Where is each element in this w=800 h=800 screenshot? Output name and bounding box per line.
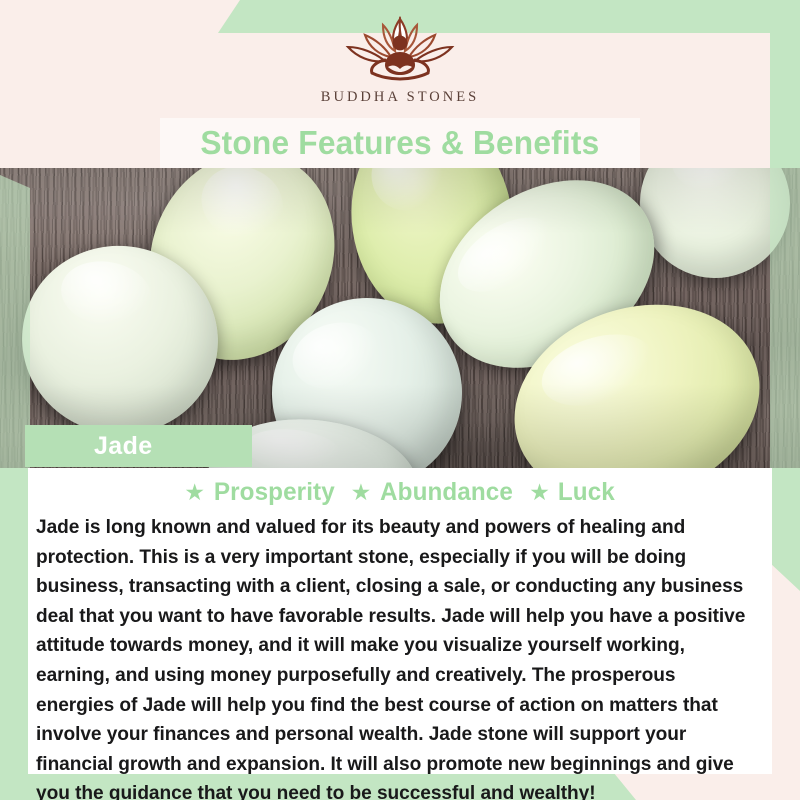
stone-photo-image bbox=[0, 168, 800, 468]
stone-name-label: Jade bbox=[94, 432, 153, 461]
keyword-list: ★ Prosperity ★ Abundance ★ Luck bbox=[28, 478, 772, 507]
brand-name: BUDDHA STONES bbox=[321, 89, 479, 106]
keyword-item-luck: ★ Luck bbox=[529, 478, 615, 507]
brand-header: BUDDHA STONES bbox=[0, 0, 800, 118]
star-icon: ★ bbox=[184, 481, 205, 504]
stone-photo bbox=[0, 168, 800, 468]
stone-description: Jade is long known and valued for its be… bbox=[36, 513, 753, 800]
keyword-item-prosperity: ★ Prosperity bbox=[184, 478, 336, 507]
photo-overlay-right bbox=[770, 168, 800, 468]
stone-name-band: Jade bbox=[25, 425, 252, 467]
star-icon: ★ bbox=[351, 481, 372, 504]
decorative-band-left-lower bbox=[0, 458, 28, 782]
photo-overlay-left bbox=[0, 168, 30, 468]
description-card: ★ Prosperity ★ Abundance ★ Luck Jade is … bbox=[28, 468, 772, 774]
keyword-item-abundance: ★ Abundance bbox=[351, 478, 516, 507]
title-banner: Stone Features & Benefits bbox=[160, 118, 640, 168]
lotus-meditation-icon bbox=[325, 13, 475, 85]
photo-vignette bbox=[0, 168, 800, 468]
stone-info-card: BUDDHA STONES Stone Features & Benefits … bbox=[0, 0, 800, 800]
keyword-label: Luck bbox=[558, 478, 615, 507]
keyword-label: Abundance bbox=[380, 478, 513, 507]
keyword-label: Prosperity bbox=[214, 478, 335, 507]
star-icon: ★ bbox=[529, 481, 550, 504]
page-title: Stone Features & Benefits bbox=[200, 124, 599, 162]
